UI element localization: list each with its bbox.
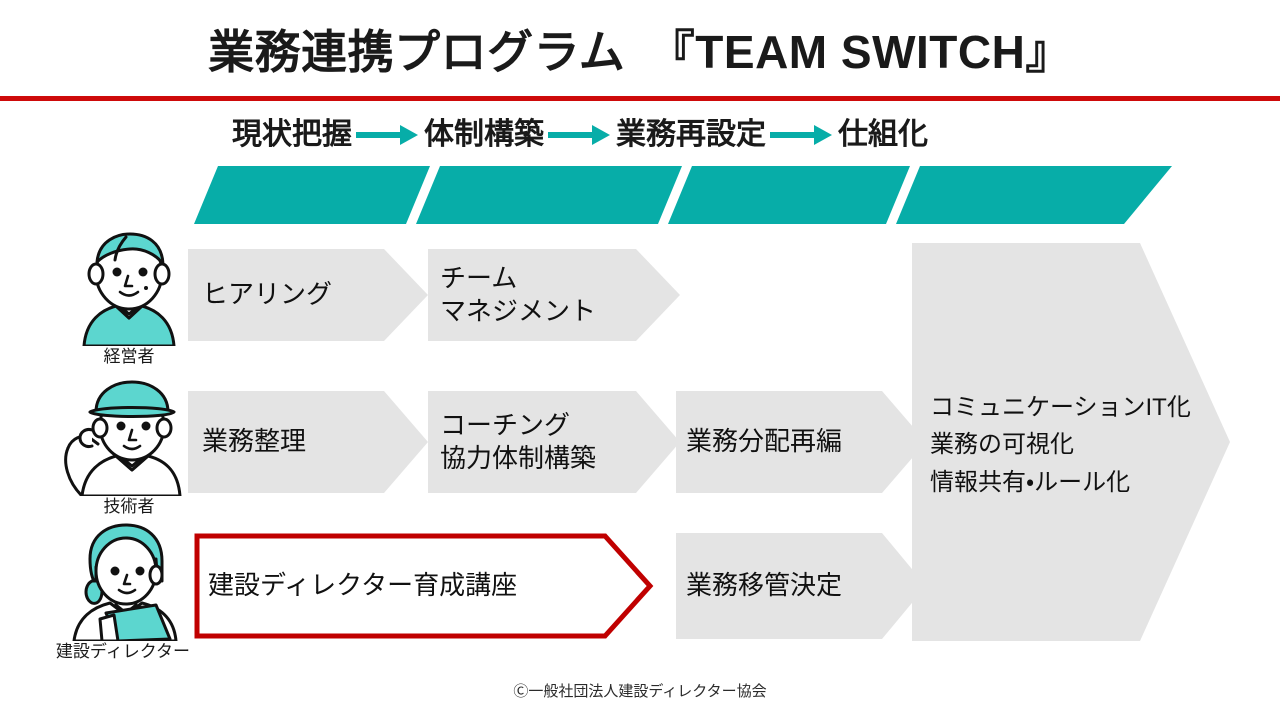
stage-label-3: 業務再設定 (616, 120, 766, 150)
row3-cell2-line-1: 業務移管決定 (686, 569, 842, 602)
page-title-jp: 業務連携プログラム (208, 26, 672, 78)
banner-label-1: 分 析 (208, 338, 420, 386)
row1-cell2-line-1: チーム (440, 262, 596, 295)
outcome-line-1: コミュニケーションIT化 (930, 389, 1230, 426)
row2-cell3-line-1: 業務分配再編 (686, 425, 842, 458)
row1-cell2-text: チーム マネジメント (440, 249, 596, 341)
row2-cell3-text: 業務分配再編 (686, 391, 842, 493)
row3-cell2-text: 業務移管決定 (686, 533, 842, 639)
stage-label-1: 現状把握 (232, 120, 352, 150)
arrow-right-icon (352, 120, 424, 150)
row2-cell1-text: 業務整理 (202, 391, 306, 493)
outcome-text: コミュニケーションIT化 業務の可視化 情報共有・ルール化 (930, 385, 1230, 505)
banner-label-2: リスキリング (428, 338, 670, 386)
person-construction-director: 建設ディレクター (30, 523, 216, 660)
row2-cell2-line-2: 協力体制構築 (440, 442, 596, 475)
person-caption-executive: 経営者 (36, 348, 222, 365)
title-divider-rule (0, 96, 1280, 101)
page-title-en: 『TEAM SWITCH』 (672, 26, 1072, 78)
slide-canvas: 業務連携プログラム 『TEAM SWITCH』 現状把握 体制構築 業務再設定 … (0, 0, 1280, 720)
stage-label-row: 現状把握 体制構築 業務再設定 仕組化 (232, 112, 1132, 158)
person-caption-engineer: 技術者 (36, 498, 222, 515)
banner-segment-shape-4 (896, 166, 1172, 224)
row3-cell1-text: 建設ディレクター育成講座 (208, 533, 517, 639)
row3-cell1-line-1: 建設ディレクター育成講座 (208, 569, 517, 602)
construction-director-avatar-icon (30, 523, 216, 641)
banner-segment-shape-3 (668, 166, 910, 224)
copyright-footer: Ⓒ一般社団法人建設ディレクター協会 (0, 680, 1280, 701)
row1-cell2-line-2: マネジメント (440, 295, 596, 328)
stage-label-2: 体制構築 (424, 120, 544, 150)
person-caption-construction-director: 建設ディレクター (30, 643, 216, 660)
banner-segment-shape-2 (416, 166, 682, 224)
row1-cell1-text: ヒアリング (202, 249, 332, 341)
page-title: 業務連携プログラム 『TEAM SWITCH』 (0, 26, 1280, 79)
arrow-right-icon (544, 120, 616, 150)
row2-cell1-line-1: 業務整理 (202, 425, 306, 458)
arrow-right-icon (766, 120, 838, 150)
outcome-line-2: 業務の可視化 (930, 426, 1230, 463)
outcome-line-3: 情報共有・ルール化 (930, 464, 1230, 501)
banner-label-3: 業務移管 (680, 338, 898, 386)
banner-segment-shape-1 (194, 166, 430, 224)
phase-banner: 分 析 リスキリング 業務移管 定着運用 (0, 166, 1280, 224)
stage-label-4: 仕組化 (838, 120, 928, 150)
row2-cell2-text: コーチング 協力体制構築 (440, 391, 596, 493)
row2-cell2-line-1: コーチング (440, 409, 596, 442)
row1-cell1-line-1: ヒアリング (202, 278, 332, 311)
